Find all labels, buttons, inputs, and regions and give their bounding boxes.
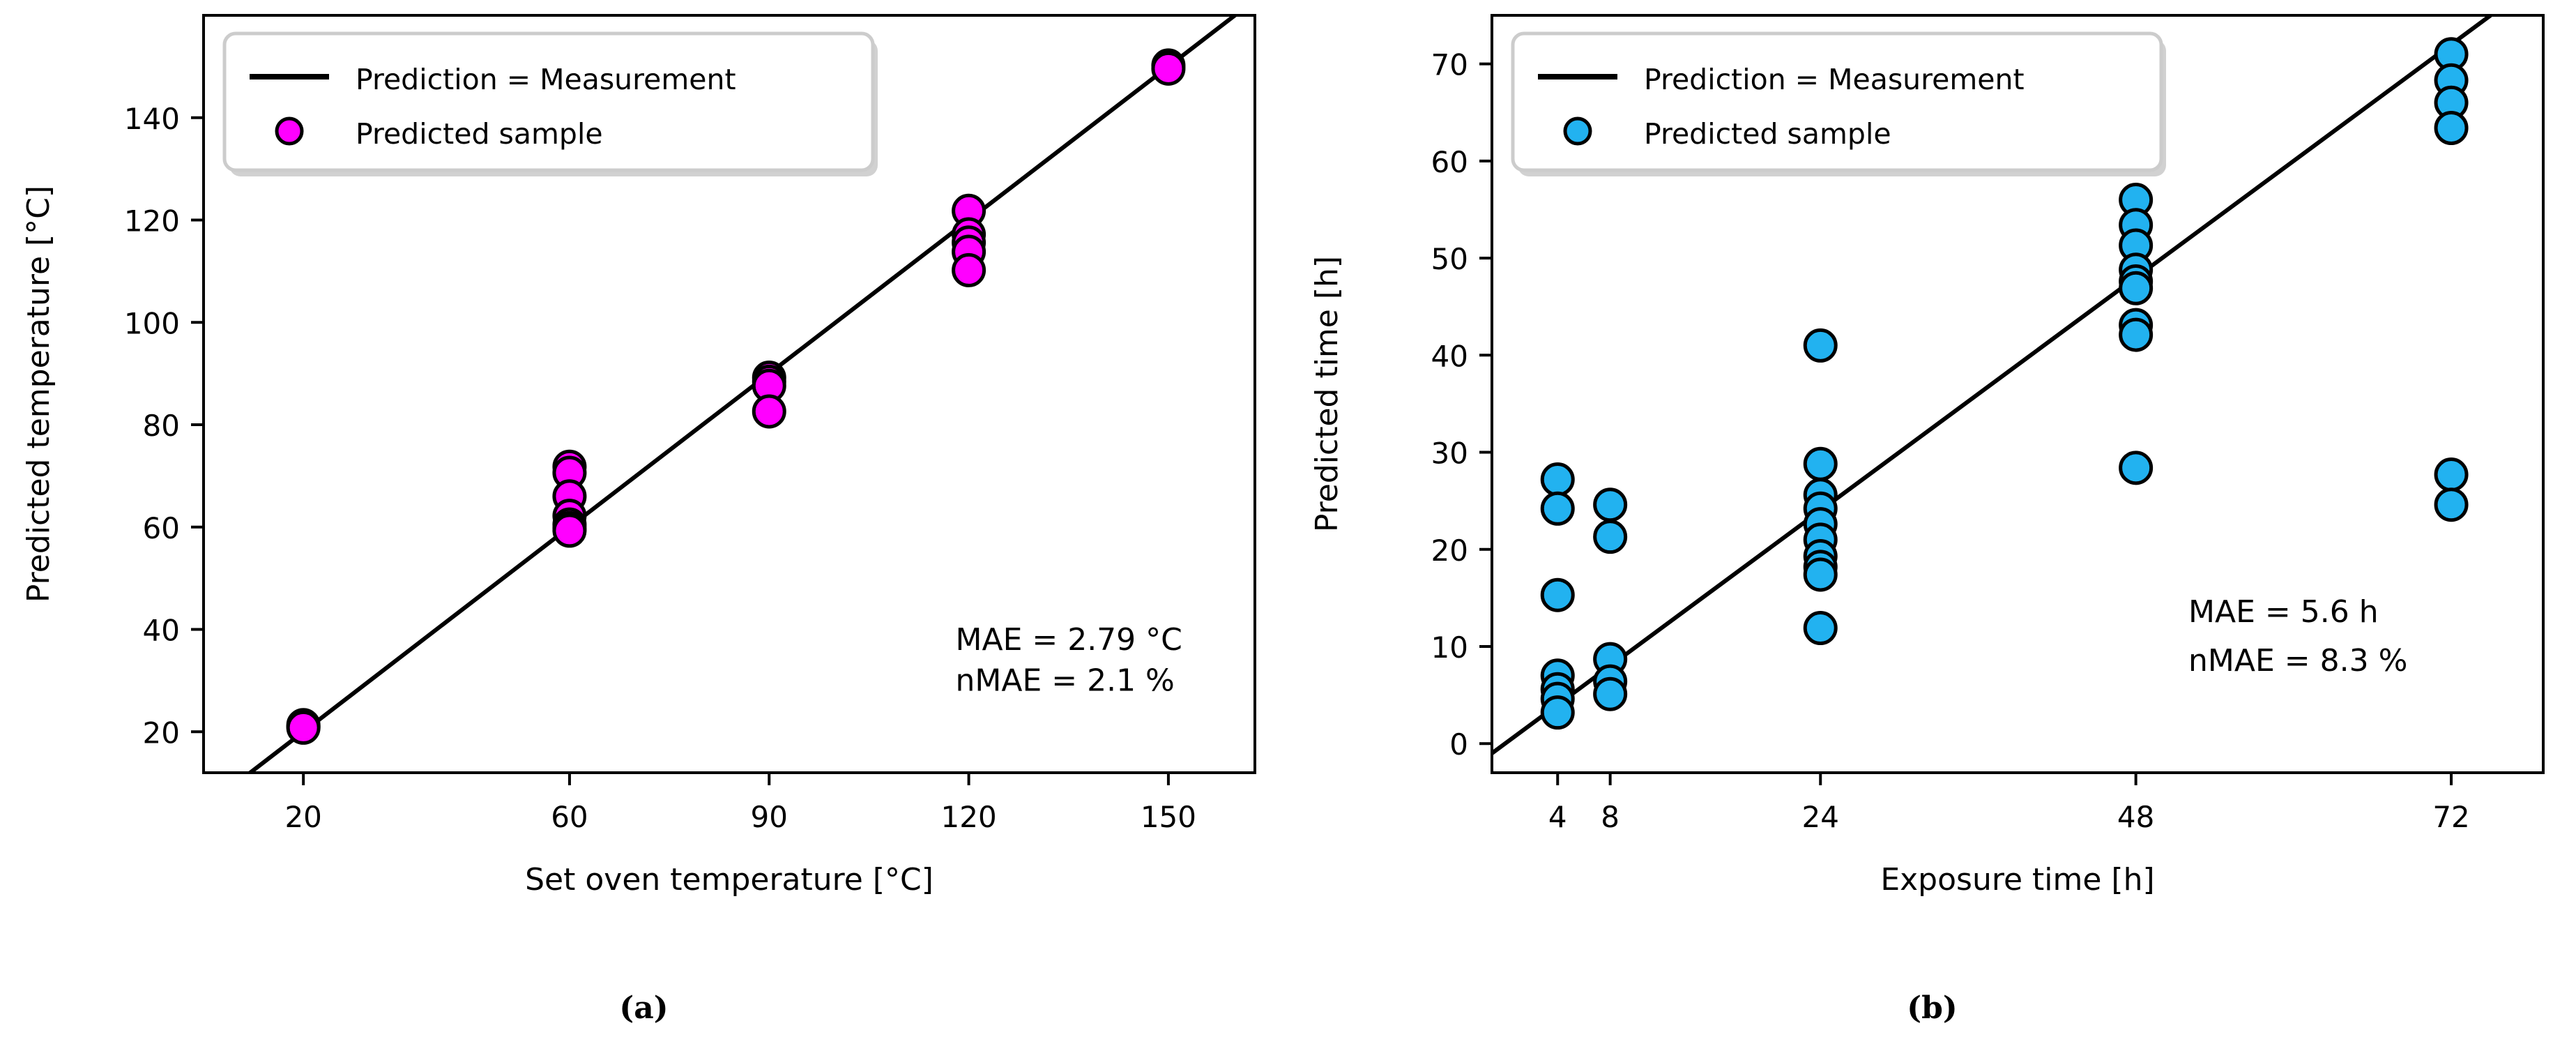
legend-marker-swatch — [1565, 119, 1590, 144]
data-point — [1542, 464, 1573, 495]
data-point — [288, 712, 319, 743]
x-tick-label: 60 — [551, 800, 588, 834]
x-axis-title: Exposure time [h] — [1880, 862, 2154, 898]
y-tick-label: 30 — [1431, 437, 1468, 471]
data-point — [1542, 493, 1573, 524]
y-tick-label: 40 — [143, 614, 180, 648]
figure-root: 20609012015020406080100120140Set oven te… — [0, 0, 2576, 1044]
data-point — [2436, 113, 2467, 144]
data-point — [2436, 490, 2467, 520]
y-tick-label: 20 — [143, 716, 180, 750]
data-point — [1153, 53, 1184, 84]
x-tick-label: 72 — [2432, 800, 2469, 834]
legend-line-label: Prediction = Measurement — [1644, 63, 2025, 96]
panel-a: 20609012015020406080100120140Set oven te… — [0, 0, 1288, 1044]
y-tick-label: 60 — [1431, 145, 1468, 179]
y-tick-label: 140 — [124, 102, 180, 136]
x-tick-label: 48 — [2117, 800, 2154, 834]
legend-line-label: Prediction = Measurement — [356, 63, 736, 96]
x-tick-label: 90 — [751, 800, 788, 834]
y-axis-title: Predicted time [h] — [1309, 256, 1345, 532]
data-point — [1595, 490, 1626, 520]
data-point — [1805, 448, 1836, 479]
x-tick-label: 4 — [1548, 800, 1567, 834]
data-point — [2121, 319, 2151, 350]
data-point — [1595, 679, 1626, 709]
data-point — [1805, 613, 1836, 644]
data-point — [1805, 559, 1836, 590]
data-point — [954, 255, 984, 285]
y-tick-label: 120 — [124, 204, 180, 239]
x-axis-title: Set oven temperature [°C] — [525, 862, 933, 898]
legend-marker-label: Predicted sample — [356, 117, 603, 151]
data-point — [754, 396, 784, 427]
data-point — [2121, 453, 2151, 483]
x-tick-label: 24 — [1802, 800, 1839, 834]
data-point — [2436, 460, 2467, 490]
y-tick-label: 80 — [143, 409, 180, 443]
y-tick-label: 0 — [1449, 727, 1468, 762]
x-tick-label: 8 — [1601, 800, 1619, 834]
mae-annotation: MAE = 5.6 h — [2188, 594, 2379, 630]
panel-b: 48244872010203040506070Exposure time [h]… — [1288, 0, 2576, 1044]
nmae-annotation: nMAE = 8.3 % — [2188, 643, 2407, 679]
y-tick-label: 10 — [1431, 630, 1468, 665]
data-point — [1542, 697, 1573, 728]
data-point — [1805, 330, 1836, 361]
x-tick-label: 120 — [941, 800, 997, 834]
x-tick-label: 150 — [1141, 800, 1196, 834]
y-tick-label: 40 — [1431, 339, 1468, 373]
mae-annotation: MAE = 2.79 °C — [956, 622, 1182, 658]
legend-marker-swatch — [277, 119, 302, 144]
legend-marker-label: Predicted sample — [1644, 117, 1891, 151]
y-tick-label: 100 — [124, 306, 180, 340]
panel-a-sublabel: (a) — [0, 990, 1288, 1026]
y-axis-title: Predicted temperature [°C] — [21, 186, 56, 603]
x-tick-label: 20 — [284, 800, 321, 834]
y-tick-label: 50 — [1431, 242, 1468, 276]
scatter-plot-b: 48244872010203040506070Exposure time [h]… — [1288, 0, 2576, 976]
y-tick-label: 70 — [1431, 48, 1468, 82]
data-point — [1595, 522, 1626, 552]
data-point — [2121, 273, 2151, 303]
y-tick-label: 20 — [1431, 534, 1468, 568]
nmae-annotation: nMAE = 2.1 % — [956, 663, 1175, 699]
panel-b-sublabel: (b) — [1288, 990, 2576, 1026]
data-point — [1542, 580, 1573, 610]
data-point — [554, 515, 585, 546]
scatter-plot-a: 20609012015020406080100120140Set oven te… — [0, 0, 1288, 976]
y-tick-label: 60 — [143, 511, 180, 545]
